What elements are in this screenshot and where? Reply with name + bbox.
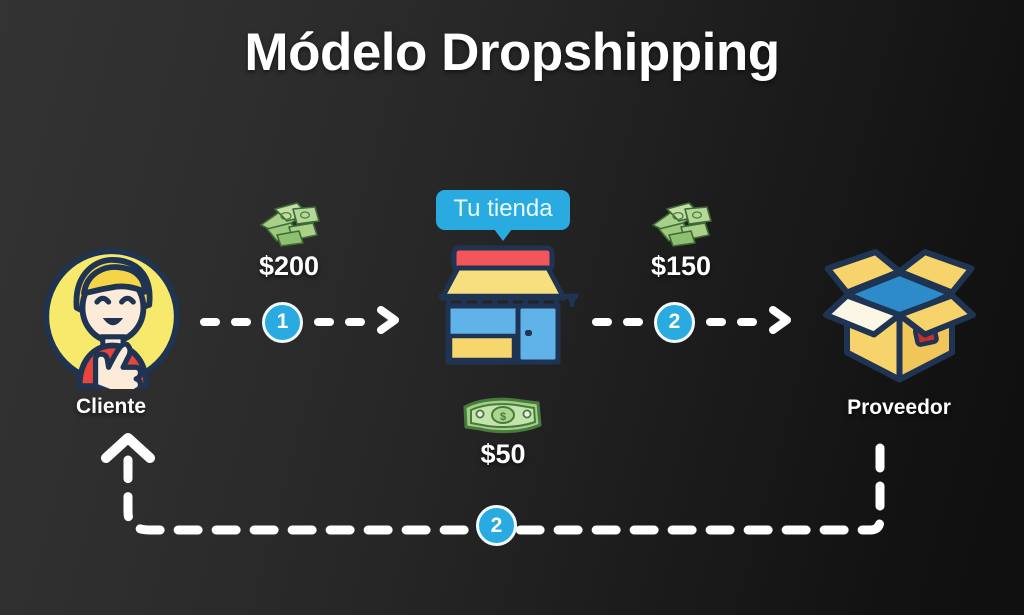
step-badge-1[interactable]: 1 [262, 302, 303, 343]
connector-tienda-to-proveedor: 2 [592, 310, 794, 334]
node-tienda[interactable]: Tu tienda [423, 190, 583, 370]
connector-dash [314, 318, 334, 326]
money-stack-icon [611, 193, 751, 249]
connector-dash [737, 318, 757, 326]
svg-text:$: $ [500, 411, 506, 423]
connector-dash [345, 318, 365, 326]
money-group-customer-payment: $200 [219, 193, 359, 282]
money-amount-supplier-payment: $150 [611, 251, 751, 282]
open-box-icon [810, 240, 988, 390]
store-tooltip: Tu tienda [436, 190, 569, 230]
arrow-right-icon [768, 305, 794, 340]
connector-proveedor-to-cliente [80, 430, 950, 560]
connector-dash [592, 318, 612, 326]
connector-dash [623, 318, 643, 326]
node-proveedor-label: Proveedor [810, 396, 988, 420]
connector-cliente-to-tienda: 1 [200, 310, 402, 334]
money-stack-icon [219, 193, 359, 249]
money-group-supplier-payment: $150 [611, 193, 751, 282]
connector-dash [706, 318, 726, 326]
node-cliente-label: Cliente [36, 395, 186, 419]
step-badge-2[interactable]: 2 [654, 302, 695, 343]
arrow-right-icon [376, 305, 402, 340]
connector-dash [200, 318, 220, 326]
storefront-icon [423, 244, 583, 370]
node-cliente[interactable]: Cliente [36, 244, 186, 419]
page-title: Módelo Dropshipping [0, 22, 1024, 83]
connector-dash [231, 318, 251, 326]
dropshipping-diagram: Módelo Dropshipping [0, 0, 1024, 615]
money-amount-customer-payment: $200 [219, 251, 359, 282]
node-proveedor[interactable]: Proveedor [810, 240, 988, 420]
customer-avatar-icon [36, 244, 186, 389]
step-badge-2-return[interactable]: 2 [476, 505, 517, 546]
